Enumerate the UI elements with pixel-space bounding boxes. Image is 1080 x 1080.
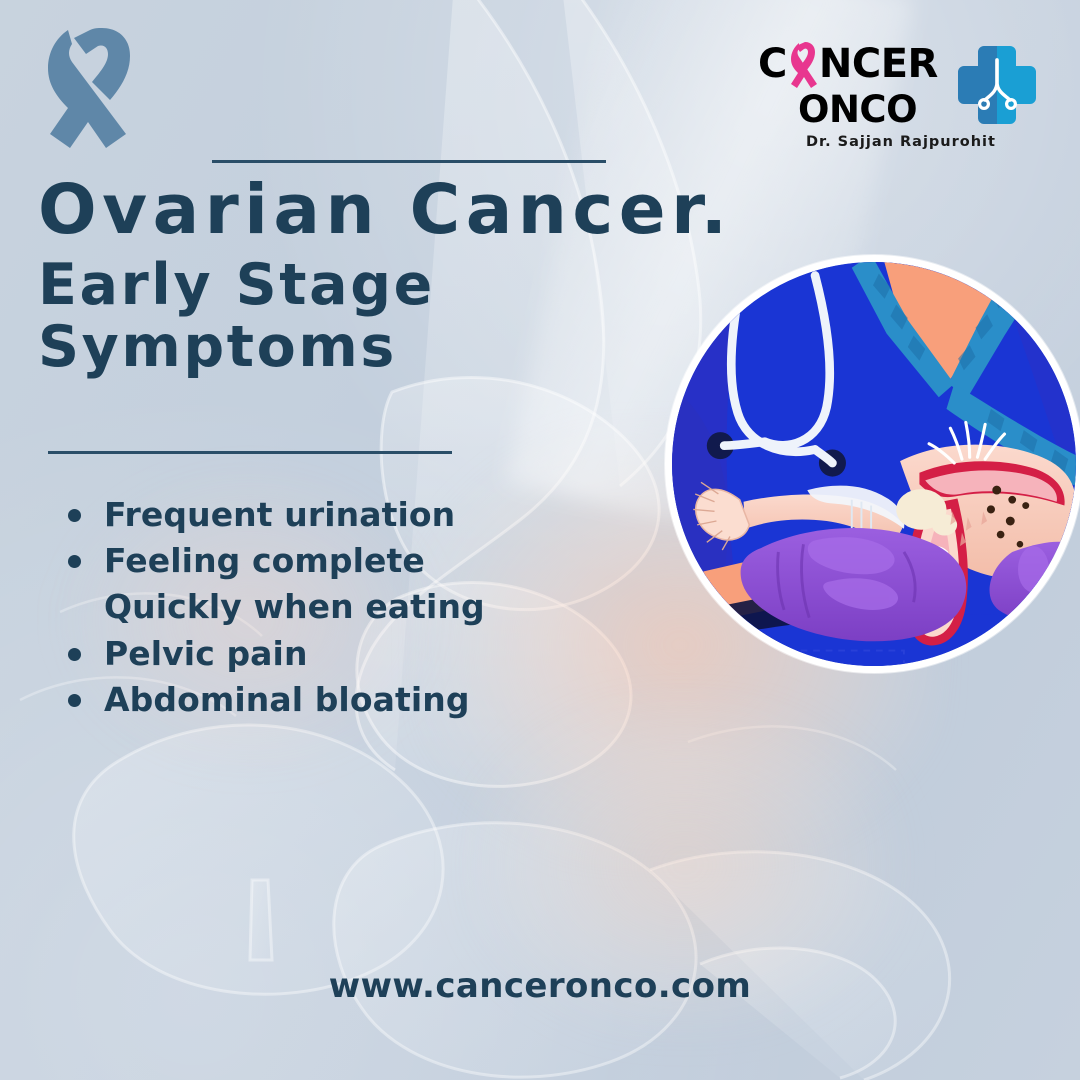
symptom-text: Feeling complete — [104, 541, 425, 580]
logo-letters-onc: ONC — [798, 91, 886, 128]
bottom-divider-rule — [48, 451, 452, 454]
website-url[interactable]: www.canceronco.com — [0, 966, 1080, 1006]
title-line-2: Early Stage — [38, 252, 435, 318]
symptom-text: Pelvic pain — [104, 634, 308, 673]
logo-tagline: Dr. Sajjan Rajpurohit — [806, 134, 996, 150]
list-item: Frequent urination — [58, 492, 618, 538]
bullet-dot-icon — [68, 694, 81, 707]
bullet-dot-icon — [68, 555, 81, 568]
brand-logo[interactable]: C NCER ONC O — [758, 38, 1024, 156]
symptom-text: Abdominal bloating — [104, 680, 470, 719]
title-line-main: Ovarian Cancer. — [38, 176, 998, 245]
symptom-text: Frequent urination — [104, 495, 455, 534]
list-item: Feeling complete Quickly when eating — [58, 538, 618, 630]
list-item: Abdominal bloating — [58, 677, 618, 723]
logo-letter-c: C — [758, 44, 787, 84]
doctor-illustration-circle — [665, 255, 1080, 673]
pink-ribbon-icon — [788, 40, 818, 90]
medical-cross-stethoscope-icon — [956, 42, 1038, 124]
bullet-dot-icon — [68, 648, 81, 661]
top-divider-rule — [212, 160, 606, 163]
bullet-dot-icon — [68, 509, 81, 522]
logo-word-onco: ONC O — [798, 86, 917, 132]
poster-canvas: C NCER ONC O — [0, 0, 1080, 1080]
symptom-text-line2: Quickly when eating — [104, 584, 618, 630]
list-item: Pelvic pain — [58, 631, 618, 677]
logo-letter-o2: O — [886, 91, 917, 128]
logo-letters-ncer: NCER — [819, 44, 938, 84]
symptoms-list: Frequent urination Feeling complete Quic… — [58, 492, 618, 723]
logo-word-cancer: C NCER — [758, 38, 938, 90]
awareness-ribbon-icon — [30, 22, 142, 158]
